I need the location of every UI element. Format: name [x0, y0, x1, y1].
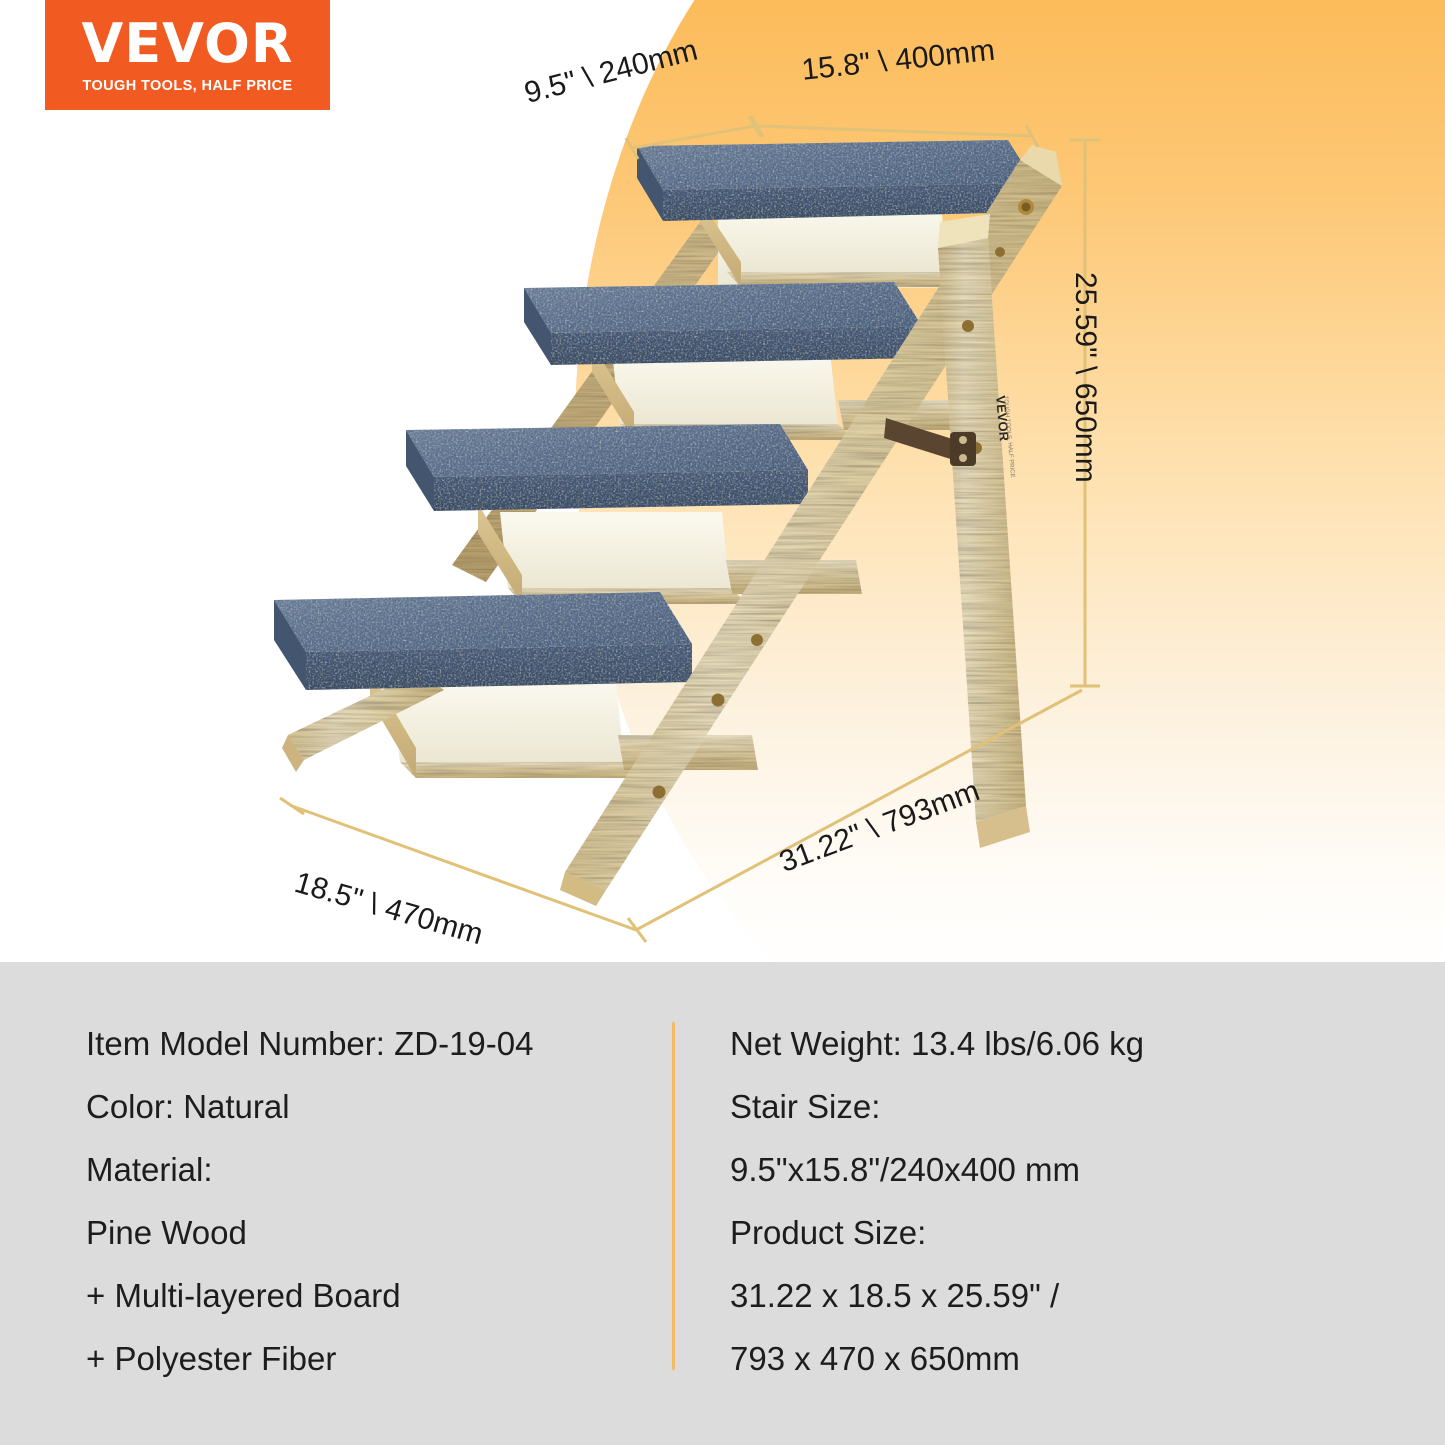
- spec-item-product-size-in: 31.22 x 18.5 x 25.59" /: [730, 1264, 1370, 1327]
- spec-item-stair-size-label: Stair Size:: [730, 1075, 1370, 1138]
- dimension-label-height: 25.59" \ 650mm: [1068, 272, 1102, 483]
- vevor-logo: VEVOR TOUGH TOOLS, HALF PRICE: [45, 0, 330, 110]
- spec-item-material-3: + Polyester Fiber: [86, 1327, 661, 1390]
- tread-2: [406, 424, 808, 511]
- spec-item-stair-size-value: 9.5"x15.8"/240x400 mm: [730, 1138, 1370, 1201]
- spec-column-divider: [672, 1022, 675, 1370]
- spec-item-net-weight: Net Weight: 13.4 lbs/6.06 kg: [730, 1012, 1370, 1075]
- spec-item-model-number: Item Model Number: ZD-19-04: [86, 1012, 661, 1075]
- rear-right-leg: [938, 214, 1030, 848]
- tread-1: [274, 592, 692, 690]
- spec-item-color: Color: Natural: [86, 1075, 661, 1138]
- tread-4: [637, 140, 1035, 221]
- spec-item-material-2: + Multi-layered Board: [86, 1264, 661, 1327]
- logo-tagline: TOUGH TOOLS, HALF PRICE: [82, 78, 292, 94]
- spec-column-left: Item Model Number: ZD-19-04 Color: Natur…: [86, 1012, 661, 1390]
- spec-item-product-size-label: Product Size:: [730, 1201, 1370, 1264]
- product-hero: VEVOR TOUGH TOOLS, HALF PRICE: [0, 0, 1445, 962]
- spec-item-material-label: Material:: [86, 1138, 661, 1201]
- product-illustration: VEVOR TOUGH TOOLS, HALF PRICE: [0, 0, 1445, 962]
- tread-3: [524, 282, 922, 365]
- spec-column-right: Net Weight: 13.4 lbs/6.06 kg Stair Size:…: [730, 1012, 1370, 1390]
- spec-item-material-1: Pine Wood: [86, 1201, 661, 1264]
- logo-wordmark: VEVOR: [81, 17, 293, 71]
- spec-item-product-size-mm: 793 x 470 x 650mm: [730, 1327, 1370, 1390]
- pet-stairs-svg: VEVOR TOUGH TOOLS, HALF PRICE: [0, 0, 1445, 962]
- product-spec-page: VEVOR TOUGH TOOLS, HALF PRICE: [0, 0, 1445, 1445]
